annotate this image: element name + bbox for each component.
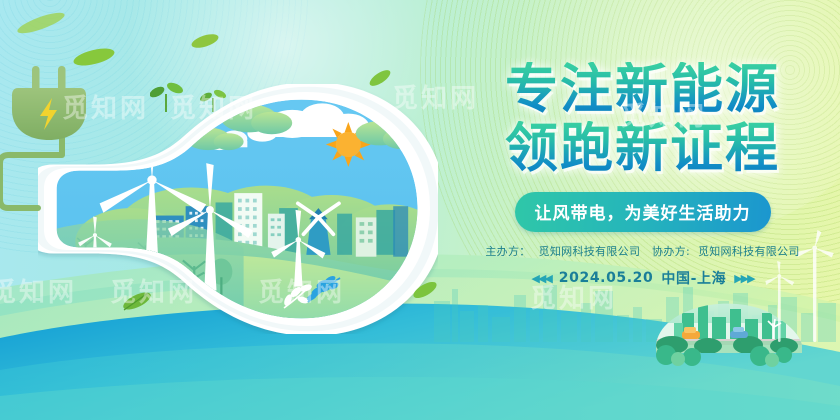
arrow-right-icon: ▶▶▶ bbox=[734, 272, 753, 285]
leaf-sprout-icon-1 bbox=[150, 80, 184, 114]
leaf-sprout-icon-5 bbox=[200, 88, 226, 114]
title-line-2: 领跑新证程 bbox=[455, 121, 830, 176]
coorganizer-label: 协办方: bbox=[652, 245, 690, 258]
organizer-label: 主办方： bbox=[485, 245, 530, 258]
title-line-1: 专注新能源 bbox=[455, 62, 830, 117]
event-date: 2024.05.20 bbox=[559, 270, 654, 286]
slogan-pill: 让风带电，为美好生活助力 bbox=[515, 192, 771, 232]
event-location: 中国-上海 bbox=[661, 268, 726, 288]
date-location-bar: ◀◀◀ 2024.05.20 中国-上海 ▶▶▶ bbox=[455, 268, 830, 288]
leaf-icon-2 bbox=[190, 30, 220, 52]
leaf-icon-7 bbox=[410, 278, 440, 302]
arrow-left-icon: ◀◀◀ bbox=[531, 272, 550, 285]
leaf-icon-4 bbox=[14, 8, 68, 38]
leaf-icon-3 bbox=[72, 44, 116, 70]
plug-cable bbox=[0, 135, 62, 208]
leaf-icon-8 bbox=[366, 66, 394, 90]
organizer-name: 觅知网科技有限公司 bbox=[539, 245, 641, 258]
poster-text-block: 专注新能源 领跑新证程 让风带电，为美好生活助力 主办方：觅知网科技有限公司 协… bbox=[455, 62, 830, 288]
poster-canvas: 专注新能源 领跑新证程 让风带电，为美好生活助力 主办方：觅知网科技有限公司 协… bbox=[0, 0, 840, 420]
organizer-line: 主办方：觅知网科技有限公司 协办方:觅知网科技有限公司 bbox=[455, 243, 830, 259]
electric-plug bbox=[0, 60, 131, 245]
leaf-icon-6 bbox=[120, 288, 154, 314]
coorganizer-name: 觅知网科技有限公司 bbox=[698, 245, 800, 258]
